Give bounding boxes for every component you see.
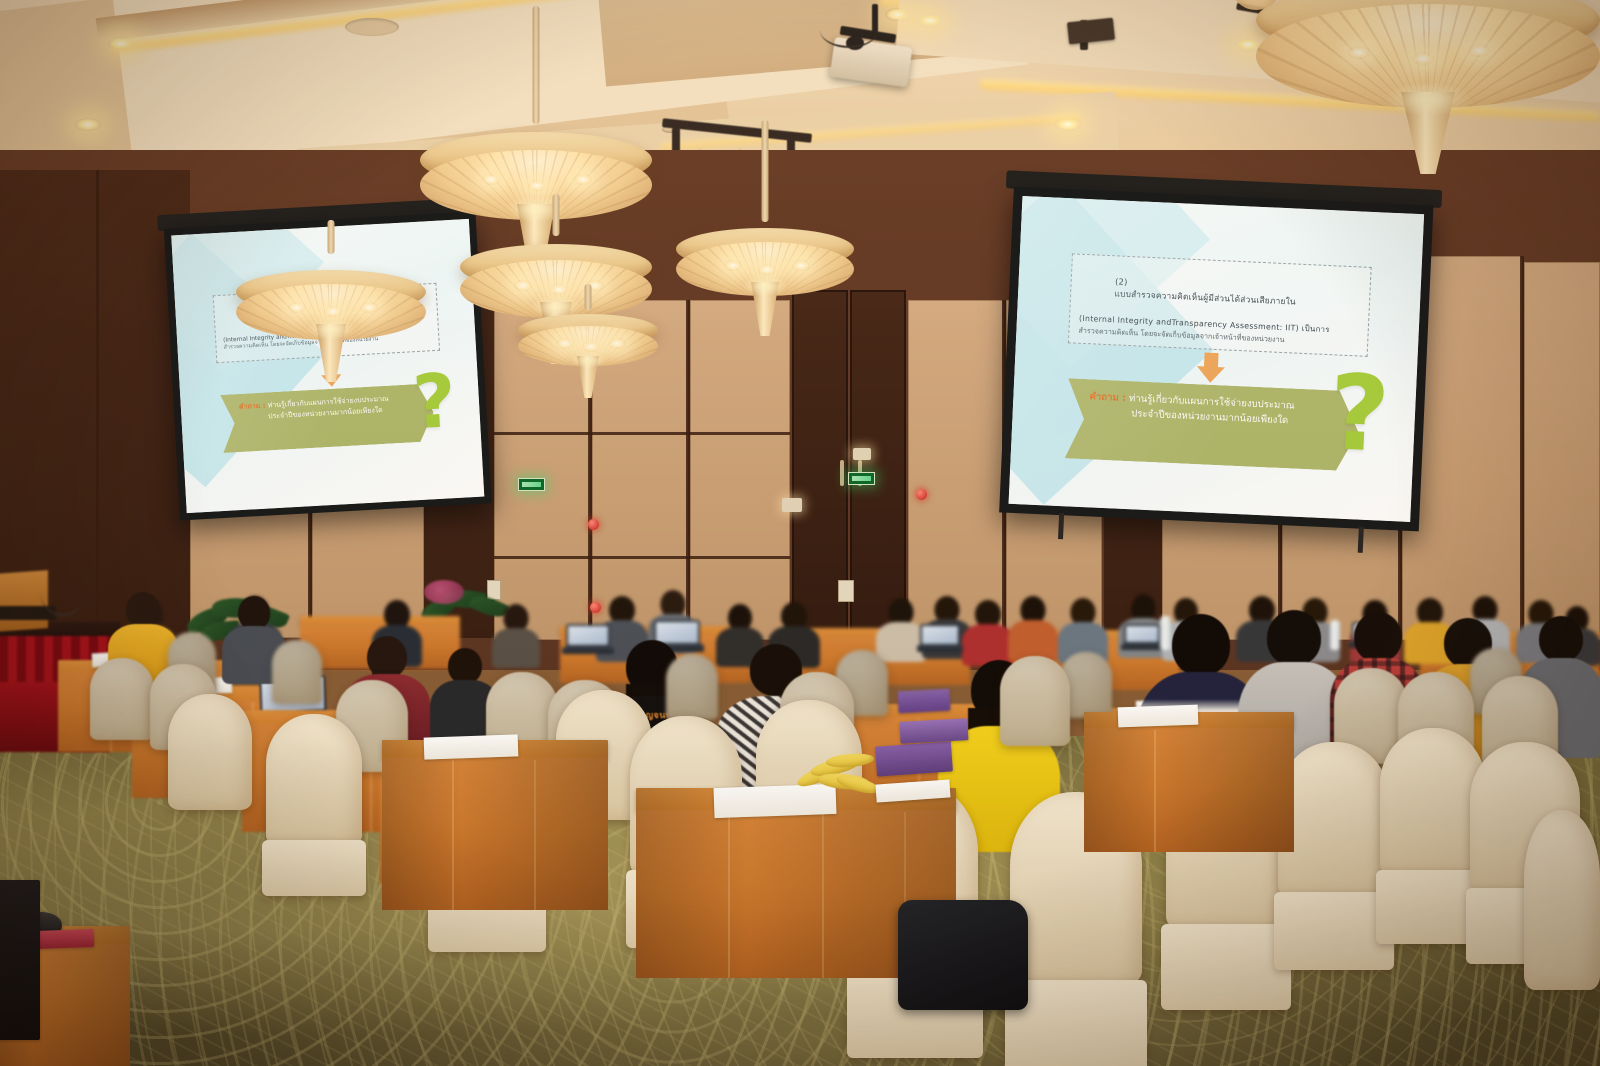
wall-spotlight	[853, 448, 871, 460]
question-label: คำถาม :	[1089, 391, 1126, 404]
slide-header-thai-1: แบบสำรวจความคิดเห็นผู้มีส่วนได้ส่วนเสียภ…	[1114, 289, 1296, 307]
document-sheet[interactable]	[1118, 705, 1199, 728]
wall-panel	[1524, 262, 1600, 640]
exit-sign	[848, 472, 875, 485]
question-mark-icon: ?	[1327, 368, 1391, 459]
right-screen-surface: (2) แบบสำรวจความคิดเห็นผู้มีส่วนได้ส่วนเ…	[1009, 196, 1425, 522]
question-banner: คำถาม : ท่านรู้เกี่ยวกับแผนการใช้จ่ายงบป…	[220, 383, 435, 453]
covered-banquet-chair[interactable]	[168, 694, 252, 810]
cone-pendant-lamp	[676, 218, 854, 348]
cone-pendant-lamp	[1232, 0, 1292, 26]
cone-pendant-lamp	[236, 252, 426, 382]
recessed-downlight	[917, 14, 943, 27]
podium	[0, 570, 48, 632]
recessed-downlight	[108, 37, 134, 50]
fire-alarm-button[interactable]	[916, 489, 927, 500]
slide-content-right: (2) แบบสำรวจความคิดเห็นผู้มีส่วนได้ส่วนเ…	[1009, 196, 1425, 522]
red-folder[interactable]	[34, 929, 95, 949]
covered-banquet-chair[interactable]	[266, 714, 362, 846]
banana-bunch[interactable]	[796, 754, 882, 796]
attendee-laptop[interactable]	[920, 624, 960, 652]
question-banner: คำถาม : ท่านรู้เกี่ยวกับแผนการใช้จ่ายงบป…	[1065, 378, 1360, 471]
covered-banquet-chair[interactable]	[1000, 656, 1070, 746]
banquet-table	[382, 740, 608, 910]
wall-panel	[908, 300, 1004, 640]
fire-alarm-button[interactable]	[588, 519, 599, 530]
ceiling-speaker	[345, 18, 399, 36]
cone-pendant-lamp	[518, 306, 658, 406]
black-backpack[interactable]	[898, 900, 1028, 1010]
wall-spotlight	[782, 498, 802, 512]
recessed-downlight	[885, 8, 911, 21]
exit-sign	[518, 478, 545, 491]
recessed-downlight	[75, 118, 101, 131]
purple-folder[interactable]	[899, 718, 968, 744]
purple-folder[interactable]	[875, 741, 953, 776]
covered-banquet-chair[interactable]	[272, 640, 322, 704]
down-arrow-icon	[1196, 352, 1225, 383]
slide-header-number: (2)	[1115, 277, 1128, 288]
question-label: คำถาม :	[239, 402, 266, 411]
covered-banquet-chair[interactable]	[1524, 810, 1600, 990]
cone-pendant-lamp	[1256, 0, 1600, 172]
black-bag[interactable]	[0, 880, 40, 1040]
wall-notice	[838, 580, 854, 602]
banquet-table	[1084, 712, 1294, 852]
covered-banquet-chair[interactable]	[1278, 742, 1390, 898]
flower-arrangement	[424, 580, 464, 604]
covered-banquet-chair[interactable]	[90, 658, 154, 740]
document-sheet[interactable]	[424, 734, 519, 759]
recessed-downlight	[1055, 118, 1081, 131]
door-handle[interactable]	[840, 460, 844, 486]
covered-banquet-chair[interactable]	[666, 654, 718, 720]
wall-panel	[690, 300, 790, 640]
right-screen: (2) แบบสำรวจความคิดเห็นผู้มีส่วนได้ส่วนเ…	[999, 187, 1434, 546]
slide-header-box: (2) แบบสำรวจความคิดเห็นผู้มีส่วนได้ส่วนเ…	[1068, 253, 1372, 357]
wall-dark-panel	[0, 170, 190, 640]
conference-hall-photo: (2) แบบสำรวจความคิดเห็นผู้มีส่วนได้ส่วนเ…	[0, 0, 1600, 1066]
